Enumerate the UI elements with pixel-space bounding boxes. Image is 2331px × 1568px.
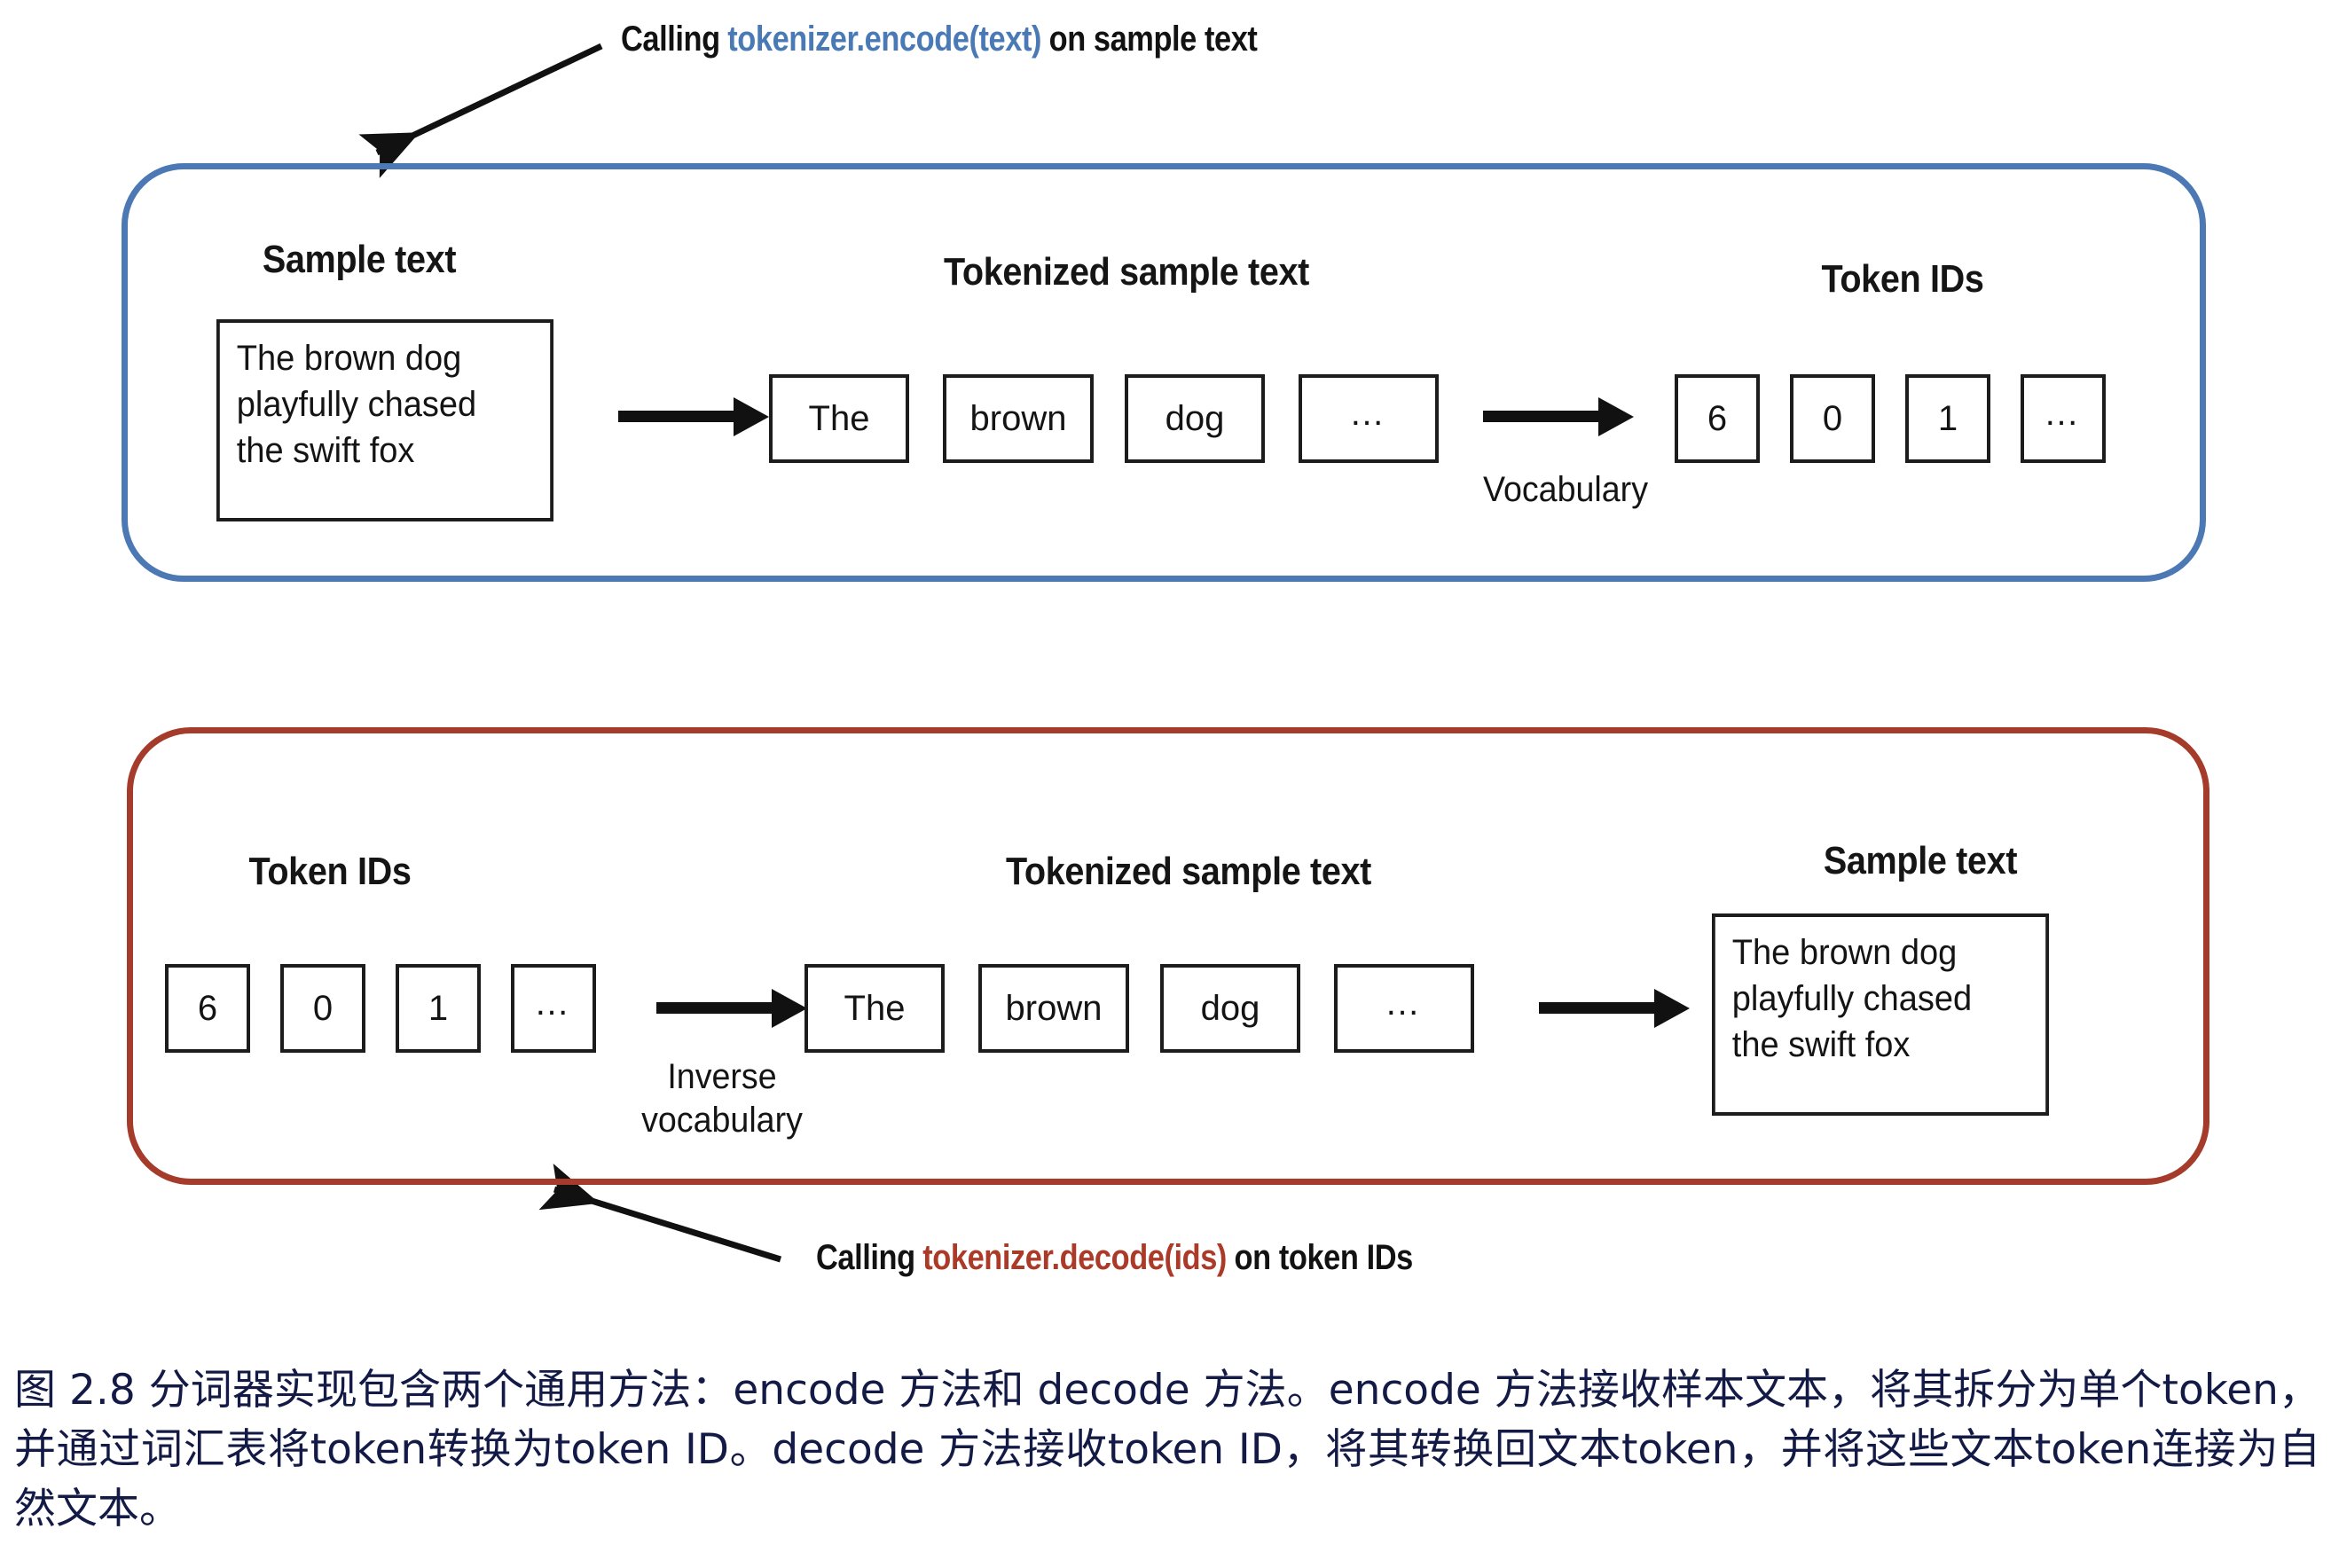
decode-token-cell-2: dog — [1160, 964, 1300, 1053]
decode-token-cell-1: brown — [978, 964, 1129, 1053]
decode-id-cell-2: 1 — [396, 964, 481, 1053]
decode-annotation-suffix: on token IDs — [1235, 1238, 1413, 1277]
encode-token-ids-heading: Token IDs — [1775, 257, 2030, 302]
encode-sample-text-heading: Sample text — [216, 238, 503, 282]
decode-id-cell-3: … — [511, 964, 596, 1053]
encode-id-cell-3: … — [2021, 374, 2106, 463]
figure-canvas: Callingtokenizer.encode(text)on sample t… — [0, 0, 2331, 1568]
encode-token-cell-0: The — [769, 374, 909, 463]
decode-sample-text-heading: Sample text — [1777, 839, 2064, 883]
decode-annotation-code: tokenizer.decode(ids) — [915, 1238, 1235, 1277]
encode-vocabulary-label: Vocabulary — [1445, 468, 1687, 512]
decode-tokenized-heading: Tokenized sample text — [925, 850, 1452, 894]
decode-id-cell-0: 6 — [165, 964, 250, 1053]
encode-tokenized-heading: Tokenized sample text — [863, 250, 1390, 294]
encode-id-cell-0: 6 — [1675, 374, 1760, 463]
encode-id-cell-1: 0 — [1790, 374, 1875, 463]
encode-token-cell-2: dog — [1125, 374, 1265, 463]
decode-inverse-vocabulary-label: Inverse vocabulary — [597, 1055, 847, 1142]
encode-id-cell-2: 1 — [1905, 374, 1990, 463]
decode-sample-text-box: The brown dog playfully chased the swift… — [1712, 913, 2049, 1116]
decode-annotation: Callingtokenizer.decode(ids)on token IDs — [816, 1238, 1413, 1278]
decode-token-cell-0: The — [804, 964, 945, 1053]
decode-sample-text-value: The brown dog playfully chased the swift… — [1732, 933, 1972, 1064]
decode-token-cell-3: … — [1334, 964, 1474, 1053]
decode-id-cell-1: 0 — [280, 964, 365, 1053]
encode-token-cell-1: brown — [943, 374, 1094, 463]
decode-annotation-prefix: Calling — [816, 1238, 915, 1277]
encode-token-cell-3: … — [1299, 374, 1439, 463]
decode-token-ids-heading: Token IDs — [202, 850, 458, 894]
encode-sample-text-value: The brown dog playfully chased the swift… — [237, 339, 476, 470]
encode-sample-text-box: The brown dog playfully chased the swift… — [216, 319, 553, 521]
figure-caption: 图 2.8 分词器实现包含两个通用方法：encode 方法和 decode 方法… — [14, 1360, 2320, 1540]
